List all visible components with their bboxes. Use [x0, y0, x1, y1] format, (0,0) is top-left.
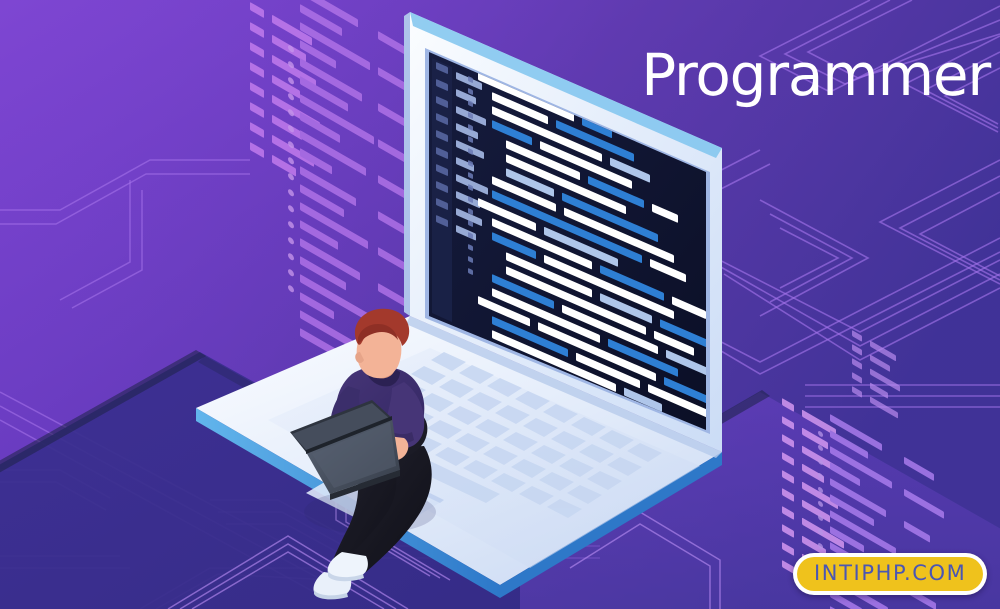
page-title: Programmer [640, 46, 990, 104]
watermark-label: INTIPHP.COM [797, 557, 983, 591]
banner-canvas: Programmer INTIPHP.COM [0, 0, 1000, 609]
watermark-badge[interactable]: INTIPHP.COM [793, 553, 987, 595]
